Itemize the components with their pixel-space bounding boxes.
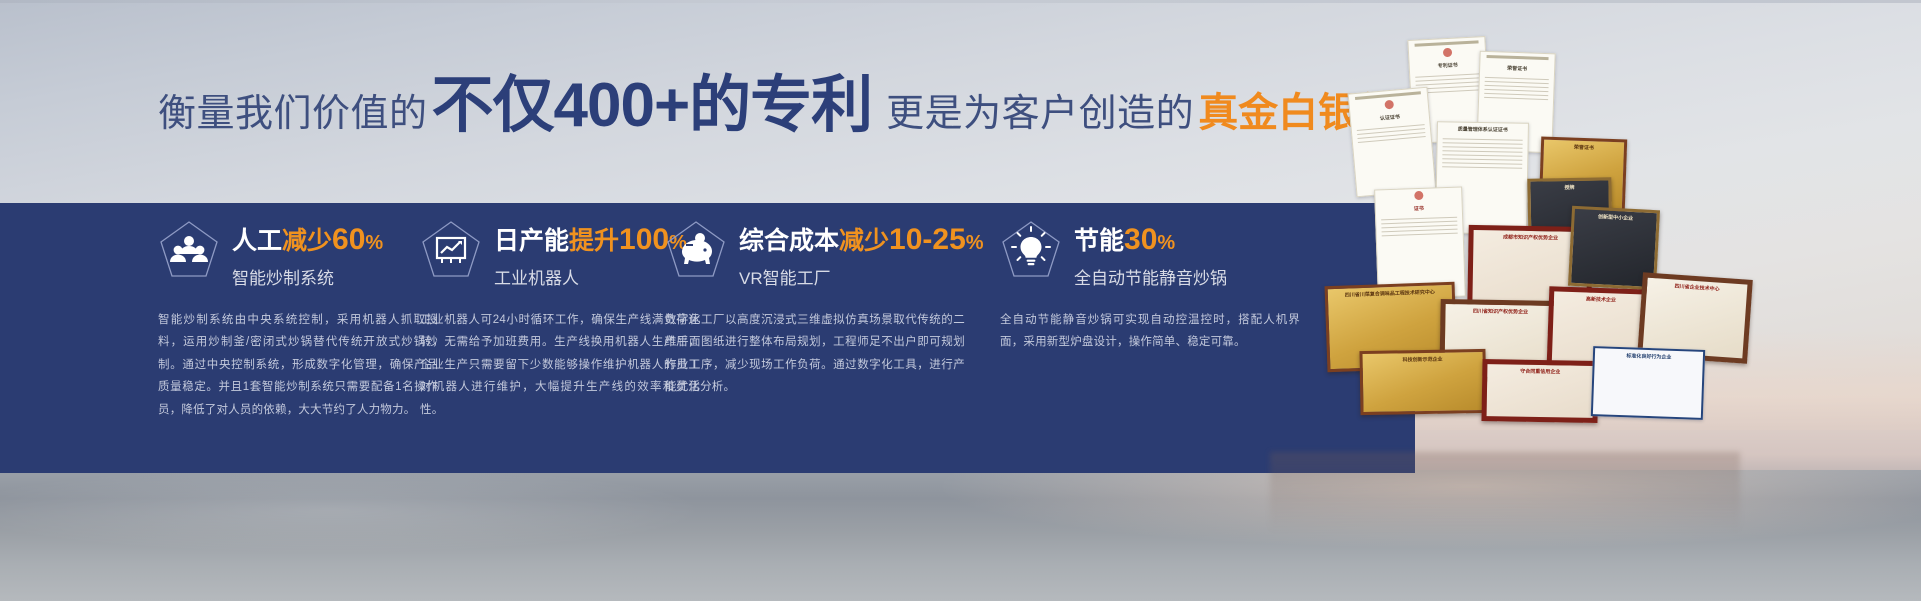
feature-title: 日产能提升100% xyxy=(494,223,687,257)
feature-title-highlight: 提升 xyxy=(569,227,619,255)
feature-title-highlight: 减少 xyxy=(839,227,889,255)
feature-title-lead: 节能 xyxy=(1074,227,1124,255)
certificate-item: 守合同重信用企业 xyxy=(1481,359,1598,423)
certificate-label: 荣誉证书 xyxy=(1480,61,1554,75)
feature-block: 日产能提升100% 工业机器人 工业机器人可24小时循环工作，确保生产线满负荷运… xyxy=(420,203,700,421)
feature-title-percent: % xyxy=(1157,232,1175,254)
headline-lead: 衡量我们价值的 xyxy=(158,82,428,137)
certificate-wall: 专利证书 荣誉证书 认证证书 质量管理体系认证证书 荣誉证书 授牌 证书 xyxy=(1240,30,1760,450)
feature-title-number: 30 xyxy=(1124,223,1157,256)
lightbulb-icon xyxy=(1000,219,1062,281)
certificate-label: 创新型中小企业 xyxy=(1574,209,1656,225)
feature-block: 人工减少60% 智能炒制系统 智能炒制系统由中央系统控制，采用机器人抓取投料，运… xyxy=(158,203,438,421)
feature-title: 综合成本减少10-25% xyxy=(739,223,984,257)
feature-subtitle: 全自动节能静音炒锅 xyxy=(1074,264,1227,289)
certificate-item: 标准化良好行为企业 xyxy=(1591,346,1705,420)
feature-title-percent: % xyxy=(365,232,383,254)
certificate-label: 专利证书 xyxy=(1409,57,1485,72)
certificate-label: 授牌 xyxy=(1530,180,1608,193)
certificate-label: 质量管理体系认证证书 xyxy=(1438,122,1528,135)
feature-subtitle: 智能炒制系统 xyxy=(232,264,383,289)
chart-monitor-icon xyxy=(420,219,482,281)
certificate-label: 科技创新示范企业 xyxy=(1363,352,1483,366)
feature-title-highlight: 减少 xyxy=(282,227,332,255)
certificate-label: 证书 xyxy=(1376,201,1462,215)
certificate-label: 四川省企业技术中心 xyxy=(1647,278,1748,296)
banner-stage: 衡量我们价值的 不仅400+的专利 更是为客户创造的 真金白银的效益 xyxy=(0,0,1921,601)
certificate-label: 守合同重信用企业 xyxy=(1487,364,1593,377)
piggy-bank-icon xyxy=(665,219,727,281)
feature-title-lead: 人工 xyxy=(232,227,282,255)
top-divider xyxy=(0,0,1921,3)
certificate-label: 标准化良好行为企业 xyxy=(1595,348,1703,363)
feature-title: 人工减少60% xyxy=(232,223,383,257)
feature-title-percent: % xyxy=(966,232,984,254)
feature-body: 数字化工厂以高度沉浸式三维虚拟仿真场景取代传统的二维平面图纸进行整体布局规划，工… xyxy=(665,309,965,399)
feature-subtitle: VR智能工厂 xyxy=(739,264,984,289)
feature-block: 综合成本减少10-25% VR智能工厂 数字化工厂以高度沉浸式三维虚拟仿真场景取… xyxy=(665,203,965,399)
certificate-label: 四川省知识产权优势企业 xyxy=(1445,304,1555,317)
feature-title-number: 10-25 xyxy=(889,223,966,256)
feature-title: 节能30% xyxy=(1074,223,1227,257)
feature-title-lead: 综合成本 xyxy=(739,227,839,255)
people-group-icon xyxy=(158,219,220,281)
certificate-reflection xyxy=(1270,452,1740,532)
feature-panel: 人工减少60% 智能炒制系统 智能炒制系统由中央系统控制，采用机器人抓取投料，运… xyxy=(0,203,1415,473)
feature-title-number: 60 xyxy=(332,223,365,256)
certificate-item: 科技创新示范企业 xyxy=(1359,349,1486,415)
feature-body: 智能炒制系统由中央系统控制，采用机器人抓取投料，运用炒制釜/密闭式炒锅替代传统开… xyxy=(158,309,438,421)
page-title: 衡量我们价值的 不仅400+的专利 更是为客户创造的 真金白银的效益 xyxy=(158,78,1358,148)
certificate-item: 认证证书 xyxy=(1348,87,1437,198)
headline-emphasis: 不仅400+的专利 xyxy=(432,78,873,134)
feature-title-number: 100 xyxy=(619,223,669,256)
certificate-label: 高新技术企业 xyxy=(1554,291,1648,306)
feature-body: 工业机器人可24小时循环工作，确保生产线满负荷运转，无需给予加班费用。生产线换用… xyxy=(420,309,700,421)
certificate-label: 荣誉证书 xyxy=(1544,140,1624,154)
feature-title-lead: 日产能 xyxy=(494,227,569,255)
certificate-label: 四川省川菜复合调味品工程技术研究中心 xyxy=(1328,285,1452,301)
feature-subtitle: 工业机器人 xyxy=(494,264,687,289)
headline-middle: 更是为客户创造的 xyxy=(886,82,1194,137)
